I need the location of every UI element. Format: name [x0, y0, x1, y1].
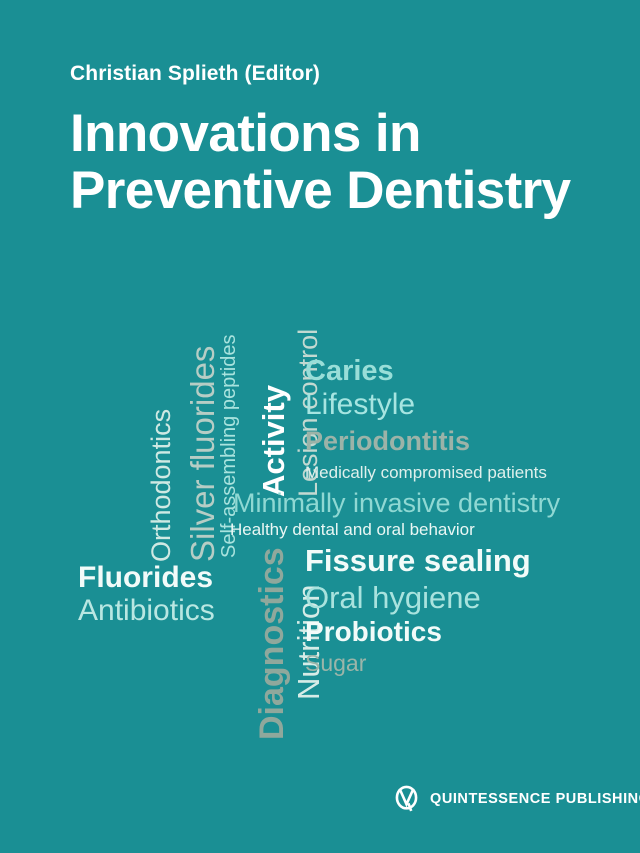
- wordcloud-term-fluorides: Fluorides: [78, 563, 213, 593]
- quintessence-qv-monogram-icon: [392, 784, 421, 813]
- wordcloud-term-fissure-sealing: Fissure sealing: [305, 545, 531, 576]
- wordcloud-term-healthy-behavior: Healthy dental and oral behavior: [230, 521, 475, 538]
- wordcloud-term-activity: Activity: [258, 385, 289, 497]
- wordcloud-term-silver-fluorides: Silver fluorides: [186, 346, 219, 562]
- publisher-logo: QUINTESSENCE PUBLISHING: [392, 784, 640, 813]
- wordcloud-term-orthodontics: Orthodontics: [148, 409, 175, 562]
- wordcloud-term-sugar: Sugar: [305, 652, 366, 675]
- wordcloud-term-caries: Caries: [305, 357, 394, 386]
- publisher-name: QUINTESSENCE PUBLISHING: [430, 791, 640, 807]
- wordcloud-term-minimally-invasive: Minimally invasive dentistry: [233, 490, 560, 517]
- wordcloud-term-periodontitis: Periodontitis: [305, 428, 470, 455]
- wordcloud-term-oral-hygiene: Oral hygiene: [305, 582, 481, 613]
- wordcloud-term-antibiotics: Antibiotics: [78, 596, 215, 626]
- wordcloud-term-medically-compromised: Medically compromised patients: [305, 464, 547, 481]
- wordcloud-term-probiotics: Probiotics: [305, 618, 442, 646]
- word-cloud: OrthodonticsSilver fluoridesSelf-assembl…: [0, 0, 640, 853]
- wordcloud-term-lifestyle: Lifestyle: [305, 390, 415, 420]
- book-cover: Christian Splieth (Editor) Innovations i…: [0, 0, 640, 853]
- wordcloud-term-diagnostics: Diagnostics: [255, 547, 289, 740]
